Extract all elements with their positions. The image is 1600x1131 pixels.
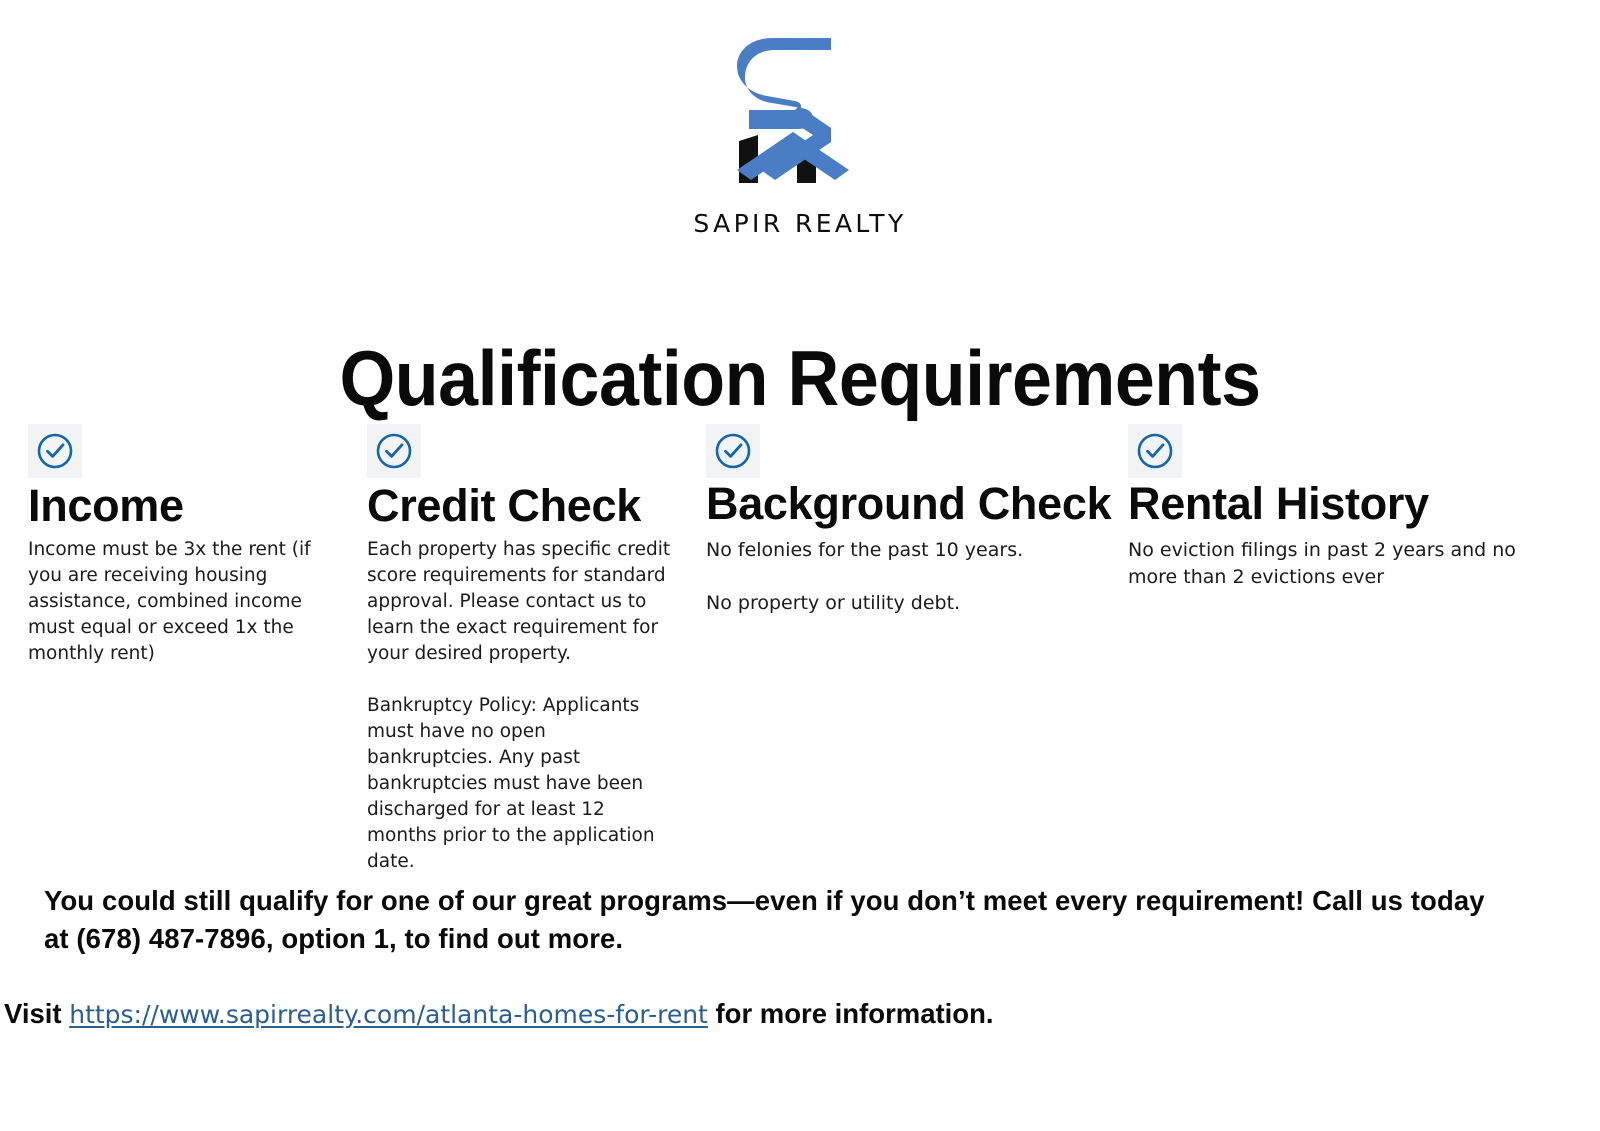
requirement-paragraph: Income must be 3x the rent (if you are r…: [28, 537, 346, 667]
requirement-body: Each property has specific credit score …: [367, 537, 677, 875]
check-circle-icon: [28, 424, 82, 478]
footer-prefix: Visit: [4, 998, 69, 1029]
requirement-paragraph: No eviction filings in past 2 years and …: [1128, 537, 1558, 591]
requirement-title: Background Check: [706, 479, 1106, 529]
requirement-paragraph: Bankruptcy Policy: Applicants must have …: [367, 693, 677, 875]
requirement-card-rental-history: Rental History No eviction filings in pa…: [1128, 424, 1558, 591]
footer-visit-line: Visit https://www.sapirrealty.com/atlant…: [4, 996, 1564, 1033]
requirement-card-income: Income Income must be 3x the rent (if yo…: [28, 424, 346, 667]
brand-wordmark: SAPIR REALTY: [693, 209, 906, 238]
requirement-paragraph: Each property has specific credit score …: [367, 537, 677, 667]
requirement-body: No eviction filings in past 2 years and …: [1128, 537, 1558, 591]
requirement-paragraph: No property or utility debt.: [706, 590, 1106, 617]
callout-text: You could still qualify for one of our g…: [44, 882, 1514, 958]
check-circle-icon: [367, 424, 421, 478]
requirement-paragraph: No felonies for the past 10 years.: [706, 537, 1106, 564]
requirements-grid: Income Income must be 3x the rent (if yo…: [0, 424, 1600, 854]
requirement-title: Rental History: [1128, 479, 1558, 529]
requirement-body: Income must be 3x the rent (if you are r…: [28, 537, 346, 667]
page-title: Qualification Requirements: [64, 335, 1536, 421]
requirement-title: Credit Check: [367, 481, 677, 531]
brand-logo-block: SAPIR REALTY: [0, 28, 1600, 238]
requirement-body: No felonies for the past 10 years. No pr…: [706, 537, 1106, 617]
footer-url-link[interactable]: https://www.sapirrealty.com/atlanta-home…: [69, 1000, 708, 1029]
requirement-title: Income: [28, 481, 346, 531]
check-circle-icon: [706, 424, 760, 478]
footer-suffix: for more information.: [708, 998, 994, 1029]
check-circle-icon: [1128, 424, 1182, 478]
requirement-card-credit-check: Credit Check Each property has specific …: [367, 424, 677, 875]
sapir-realty-monogram-icon: [725, 28, 875, 203]
requirement-card-background-check: Background Check No felonies for the pas…: [706, 424, 1106, 617]
